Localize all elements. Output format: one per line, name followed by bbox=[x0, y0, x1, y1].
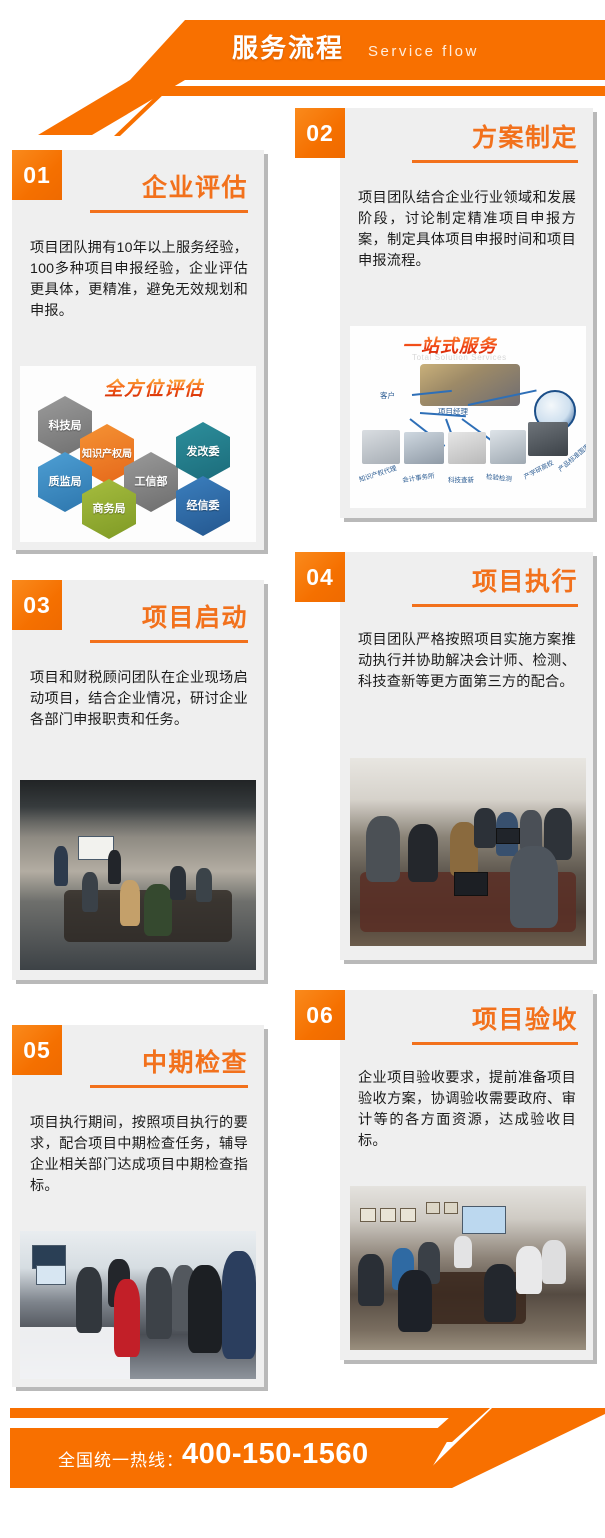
person-4 bbox=[474, 808, 496, 848]
person-1 bbox=[54, 846, 68, 886]
card-image-05 bbox=[20, 1231, 256, 1379]
person-7 bbox=[222, 1251, 256, 1359]
process-step-card-05[interactable]: 中期检查 项目执行期间，按照项目执行的要求，配合项目中期检查任务，辅导企业相关部… bbox=[12, 1025, 264, 1387]
oss-node-tech-search bbox=[448, 432, 486, 464]
person-2 bbox=[108, 850, 121, 884]
certificate-frame-2 bbox=[380, 1208, 396, 1222]
hexagon-diagram: 全方位评估 科技局 知识产权局 质监局 工信部 商务局 发改委 经信委 bbox=[20, 366, 256, 542]
oss-node-ip bbox=[362, 430, 400, 464]
card-body-06: 企业项目验收要求，提前准备项目验收方案，协调验收需要政府、审计等的各方面资源，达… bbox=[358, 1068, 576, 1152]
card-title-05: 中期检查 bbox=[90, 1043, 248, 1088]
card-body-03: 项目和财税顾问团队在企业现场启动项目，结合企业情况，研讨企业各部门申报职责和任务… bbox=[30, 668, 248, 731]
certificate-frame-1 bbox=[360, 1208, 376, 1222]
oss-node-accounting bbox=[404, 432, 444, 464]
person-4 bbox=[398, 1270, 432, 1332]
card-title-06: 项目验收 bbox=[412, 1000, 578, 1045]
hotline-label: 全国统一热线： bbox=[58, 1446, 184, 1471]
person-4 bbox=[120, 880, 140, 926]
person-6 bbox=[170, 866, 186, 900]
page-header: 服务流程 Service flow bbox=[0, 0, 605, 112]
certificate-frame-5 bbox=[444, 1202, 458, 1214]
step-badge-06: 06 bbox=[295, 990, 345, 1040]
card-image-01: 全方位评估 科技局 知识产权局 质监局 工信部 商务局 发改委 经信委 bbox=[20, 366, 256, 542]
person-2 bbox=[408, 824, 438, 882]
card-title-03: 项目启动 bbox=[90, 598, 248, 643]
person-5 bbox=[144, 884, 172, 936]
header-accent-stripe bbox=[0, 86, 605, 96]
card-title-02: 方案制定 bbox=[412, 118, 578, 163]
presentation-screen bbox=[462, 1206, 506, 1234]
certificate-frame-3 bbox=[400, 1208, 416, 1222]
process-step-card-06[interactable]: 项目验收 企业项目验收要求，提前准备项目验收方案，协调验收需要政府、审计等的各方… bbox=[340, 990, 593, 1360]
card-body-04: 项目团队严格按照项目实施方案推动执行并协助解决会计师、检测、科技查新等更方面第三… bbox=[358, 630, 576, 693]
step-badge-05: 05 bbox=[12, 1025, 62, 1075]
hexagon-node-fagai: 发改委 bbox=[176, 422, 230, 482]
workshop-photo bbox=[350, 758, 586, 946]
card-image-02: 一站式服务 Total Solution Services 客户 项目经理 知识… bbox=[350, 326, 586, 508]
person-3 bbox=[114, 1279, 140, 1357]
oss-subtitle: Total Solution Services bbox=[412, 353, 507, 362]
oss-team-photo bbox=[420, 364, 520, 406]
person-3 bbox=[82, 872, 98, 912]
card-title-01: 企业评估 bbox=[90, 168, 248, 213]
oss-bottom-label-1: 知识产权代理 bbox=[357, 462, 397, 484]
process-step-card-02[interactable]: 方案制定 项目团队结合企业行业领域和发展阶段，讨论制定精准项目申报方案，制定具体… bbox=[340, 108, 593, 518]
laptop-2 bbox=[496, 828, 520, 844]
acceptance-meeting-photo bbox=[350, 1186, 586, 1350]
person-1 bbox=[76, 1267, 102, 1333]
card-image-06 bbox=[350, 1186, 586, 1350]
oss-label-customer: 客户 bbox=[380, 390, 395, 401]
person-7 bbox=[196, 868, 212, 902]
laptop-1 bbox=[454, 872, 488, 896]
page-subtitle: Service flow bbox=[368, 40, 479, 64]
card-image-04 bbox=[350, 758, 586, 946]
card-body-02: 项目团队结合企业行业领域和发展阶段，讨论制定精准项目申报方案，制定具体项目申报时… bbox=[358, 188, 576, 272]
hotline-phone-number[interactable]: 400-150-1560 bbox=[182, 1438, 369, 1471]
person-7 bbox=[542, 1240, 566, 1284]
step-badge-04: 04 bbox=[295, 552, 345, 602]
process-step-card-01[interactable]: 企业评估 项目团队拥有10年以上服务经验，100多种项目申报经验，企业评估更具体… bbox=[12, 150, 264, 550]
certificate-frame-4 bbox=[426, 1202, 440, 1214]
step-badge-01: 01 bbox=[12, 150, 62, 200]
oss-bottom-label-2: 会计事务所 bbox=[401, 470, 435, 484]
person-5 bbox=[484, 1264, 516, 1322]
card-image-03 bbox=[20, 780, 256, 970]
card-body-05: 项目执行期间，按照项目执行的要求，配合项目中期检查任务，辅导企业相关部门达成项目… bbox=[30, 1113, 248, 1197]
step-badge-03: 03 bbox=[12, 580, 62, 630]
hexagon-diagram-title: 全方位评估 bbox=[104, 374, 204, 401]
page-title: 服务流程 bbox=[232, 30, 344, 66]
one-stop-service-diagram: 一站式服务 Total Solution Services 客户 项目经理 知识… bbox=[350, 326, 586, 508]
oss-bottom-label-5: 产学研高校 bbox=[522, 457, 555, 481]
oss-node-inspection bbox=[490, 430, 526, 464]
hexagon-node-jingxin: 经信委 bbox=[176, 476, 230, 536]
person-8 bbox=[454, 1236, 472, 1268]
person-6 bbox=[188, 1265, 222, 1353]
oss-bottom-label-3: 科技查新 bbox=[448, 474, 474, 484]
card-title-04: 项目执行 bbox=[412, 562, 578, 607]
person-1 bbox=[366, 816, 400, 882]
process-step-card-03[interactable]: 项目启动 项目和财税顾问团队在企业现场启动项目，结合企业情况，研讨企业各部门申报… bbox=[12, 580, 264, 980]
person-8 bbox=[510, 846, 558, 928]
process-step-card-04[interactable]: 项目执行 项目团队严格按照项目实施方案推动执行并协助解决会计师、检测、科技查新等… bbox=[340, 552, 593, 960]
page-footer: 全国统一热线： 400-150-1560 bbox=[0, 1408, 605, 1538]
person-1 bbox=[358, 1254, 384, 1306]
display-screen-2 bbox=[36, 1265, 66, 1285]
oss-node-university bbox=[528, 422, 568, 456]
site-visit-photo bbox=[20, 1231, 256, 1379]
step-badge-02: 02 bbox=[295, 108, 345, 158]
meeting-room-photo bbox=[20, 780, 256, 970]
oss-bottom-label-4: 检验检测 bbox=[486, 471, 513, 484]
person-4 bbox=[146, 1267, 172, 1339]
person-6 bbox=[516, 1246, 542, 1294]
card-body-01: 项目团队拥有10年以上服务经验，100多种项目申报经验，企业评估更具体，更精准，… bbox=[30, 238, 248, 322]
